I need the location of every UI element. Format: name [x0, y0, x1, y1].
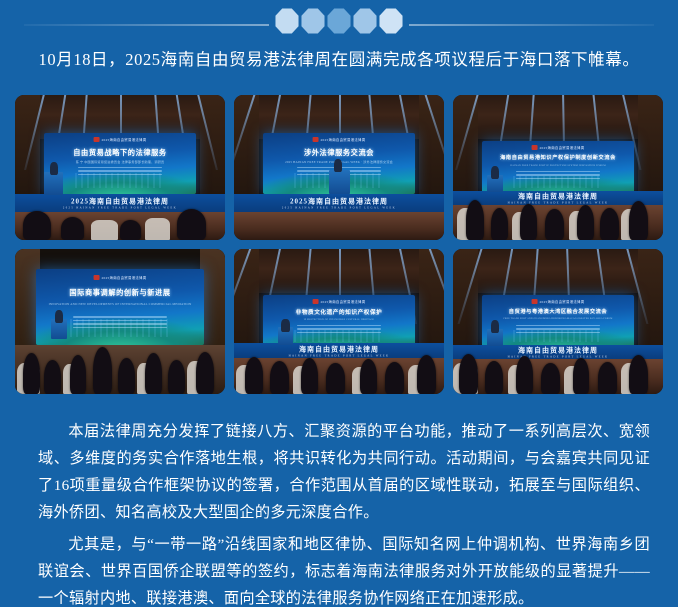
gallery-photo-1[interactable]: 2025海南自由贸易港法律周 自由贸易战略下的法律服务 陈 宁 中国国际贸易促进… — [15, 95, 225, 240]
page-title: 10月18日，2025海南自由贸易港法律周在圆满完成各项议程后于海口落下帷幕。 — [0, 42, 678, 73]
screen-subtitle: 陈 宁 中国国际贸易促进委员会 法律事务部部长助理、调研员 — [76, 159, 165, 164]
screen-logo: 2025海南自由贸易港法律周 — [94, 137, 147, 142]
audience — [453, 170, 663, 240]
hexagon-divider — [0, 0, 678, 42]
hexagon-icon-2 — [301, 8, 325, 34]
screen-title: 海南自由贸易港知识产权保护制度创新交流会 — [500, 154, 616, 161]
body-paragraph-1: 本届法律周充分发挥了链接八方、汇聚资源的平台功能，推动了一系列高层次、宽领域、多… — [38, 418, 650, 526]
ceiling — [15, 249, 225, 269]
screen-logo: 2025海南自由贸易港法律周 — [532, 299, 585, 304]
floor — [234, 212, 444, 240]
audience — [15, 316, 225, 394]
screen-title: 自贸港与粤港澳大湾区融合发展交流会 — [509, 308, 607, 315]
divider-line-left — [24, 24, 269, 26]
screen-logo: 2025海南自由贸易港法律周 — [313, 299, 366, 304]
photo-gallery: 2025海南自由贸易港法律周 自由贸易战略下的法律服务 陈 宁 中国国际贸易促进… — [15, 95, 663, 394]
hexagon-icon-3 — [327, 8, 351, 34]
gallery-photo-3[interactable]: 2025海南自由贸易港法律周 海南自由贸易港知识产权保护制度创新交流会 HAIN… — [453, 95, 663, 240]
stage: 2025海南自由贸易港法律周 2025 HAINAN FREE TRADE PO… — [234, 194, 444, 213]
stage-banner: 2025海南自由贸易港法律周 2025 HAINAN FREE TRADE PO… — [247, 197, 432, 210]
audience — [453, 324, 663, 394]
screen-text-lines — [78, 167, 163, 176]
body-paragraph-2: 尤其是，与“一带一路”沿线国家和地区律协、国际知名网上仲调机构、世界海南乡团联谊… — [38, 531, 650, 607]
audience — [234, 327, 444, 394]
speaker-figure — [50, 162, 58, 175]
screen-subtitle: HAINAN FREE TRADE PORT IP PROTECTION SYS… — [510, 164, 605, 167]
screen-logo: 2025海南自由贸易港法律周 — [94, 275, 147, 280]
conference-scene: 2025海南自由贸易港法律周 自贸港与粤港澳大湾区融合发展交流会 FREE TR… — [453, 249, 663, 394]
screen-subtitle: IP PROTECTION OF INTANGIBLE CULTURAL HER… — [304, 318, 374, 321]
screen-subtitle: INNOVATION AND NEW DEVELOPMENTS OF INTER… — [49, 302, 192, 306]
screen-logo: 2025海南自由贸易港法律周 — [313, 137, 366, 142]
gallery-photo-6[interactable]: 2025海南自由贸易港法律周 自贸港与粤港澳大湾区融合发展交流会 FREE TR… — [453, 249, 663, 394]
led-screen: 2025海南自由贸易港法律周 自由贸易战略下的法律服务 陈 宁 中国国际贸易促进… — [44, 133, 195, 194]
screen-title: 国际商事调解的创新与新进展 — [69, 288, 170, 298]
screen-title: 涉外法律服务交流会 — [304, 148, 374, 158]
screen-subtitle: FREE TRADE PORT AND GUANGDONG-HONGKONG-M… — [503, 318, 612, 320]
hexagon-icon-5 — [379, 8, 403, 34]
podium — [329, 170, 350, 193]
audience — [15, 191, 225, 240]
article-body: 本届法律周充分发挥了链接八方、汇聚资源的平台功能，推动了一系列高层次、宽领域、多… — [38, 418, 650, 607]
gallery-photo-5[interactable]: 2025海南自由贸易港法律周 非物质文化遗产的知识产权保护 IP PROTECT… — [234, 249, 444, 394]
conference-scene: 2025海南自由贸易港法律周 非物质文化遗产的知识产权保护 IP PROTECT… — [234, 249, 444, 394]
gallery-photo-2[interactable]: 2025海南自由贸易港法律周 涉外法律服务交流会 2025 HAINAN FRE… — [234, 95, 444, 240]
screen-title: 非物质文化遗产的知识产权保护 — [296, 308, 383, 316]
conference-scene: 2025海南自由贸易港法律周 自由贸易战略下的法律服务 陈 宁 中国国际贸易促进… — [15, 95, 225, 240]
screen-logo: 2025海南自由贸易港法律周 — [532, 145, 585, 150]
conference-scene: 2025海南自由贸易港法律周 海南自由贸易港知识产权保护制度创新交流会 HAIN… — [453, 95, 663, 240]
conference-scene: 2025海南自由贸易港法律周 涉外法律服务交流会 2025 HAINAN FRE… — [234, 95, 444, 240]
divider-line-right — [409, 24, 654, 26]
screen-title: 自由贸易战略下的法律服务 — [73, 148, 166, 158]
hexagon-icon-1 — [275, 8, 299, 34]
speaker-figure — [334, 159, 342, 172]
gallery-photo-4[interactable]: 2025海南自由贸易港法律周 国际商事调解的创新与新进展 INNOVATION … — [15, 249, 225, 394]
hexagon-icon-4 — [353, 8, 377, 34]
conference-scene: 2025海南自由贸易港法律周 国际商事调解的创新与新进展 INNOVATION … — [15, 249, 225, 394]
hexagon-group — [269, 8, 409, 34]
article-page: 10月18日，2025海南自由贸易港法律周在圆满完成各项议程后于海口落下帷幕。 — [0, 0, 678, 607]
